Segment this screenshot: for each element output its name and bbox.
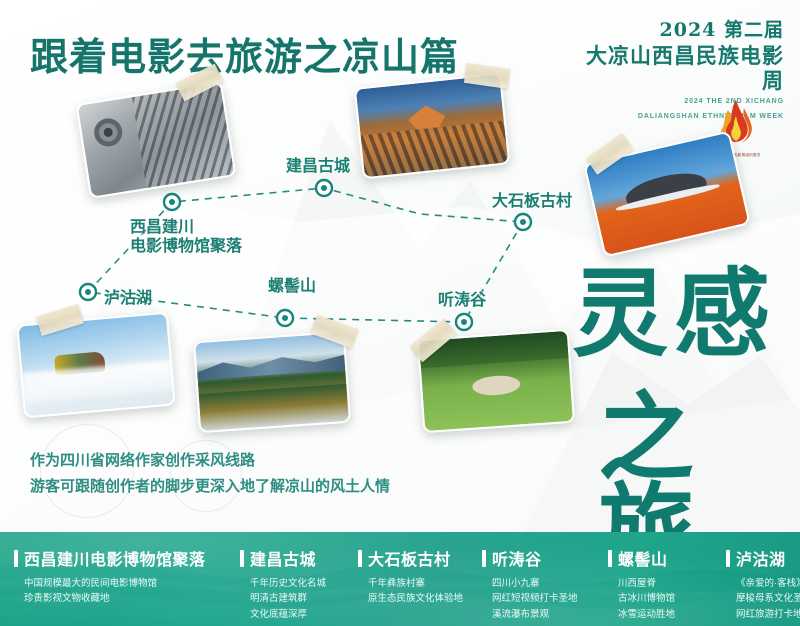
footer-column-1[interactable]: 西昌建川电影博物馆聚落中国规模最大的民间电影博物馆珍贵影视文物收藏地 (14, 546, 240, 626)
footer-column-line: 四川小九寨 (482, 576, 594, 591)
map-label-text: 西昌建川 (130, 218, 242, 237)
map-label-luojishan[interactable]: 螺髻山 (268, 272, 316, 296)
card-jianchang[interactable] (354, 73, 511, 180)
footer-column-header: 听涛谷 (482, 546, 594, 570)
footer-column-line: 文化底蕴深厚 (240, 607, 344, 622)
map-label-luguhu[interactable]: 泸沽湖 (104, 284, 152, 308)
map-label-text: 听涛谷 (438, 286, 486, 310)
map-label-text: 大石板古村 (492, 187, 572, 211)
footer-column-line: 网红短视频打卡圣地 (482, 591, 594, 606)
footer-column-header: 泸沽湖 (726, 546, 800, 570)
card-tingtao[interactable] (417, 329, 575, 433)
description-paragraph: 作为四川省网络作家创作采风线路 游客可跟随创作者的脚步更深入地了解凉山的风土人情 (30, 448, 390, 500)
footer-column-line: 溪流瀑布景观 (482, 607, 594, 622)
footer-column-title: 螺髻山 (618, 546, 668, 570)
calligraphy-line-1: 灵感 (572, 268, 776, 359)
map-label-tingtaogu[interactable]: 听涛谷 (438, 286, 486, 310)
footer-column-4[interactable]: 听涛谷四川小九寨网红短视频打卡圣地溪流瀑布景观 (482, 546, 608, 626)
vertical-bar-icon (14, 550, 18, 567)
vertical-bar-icon (240, 550, 244, 567)
footer-column-line: 珍贵影视文物收藏地 (14, 591, 226, 606)
map-label-jianchang[interactable]: 建昌古城 (286, 152, 350, 176)
description-line-1: 作为四川省网络作家创作采风线路 (30, 448, 390, 474)
footer-column-2[interactable]: 建昌古城千年历史文化名城明清古建筑群文化底蕴深厚 (240, 546, 358, 626)
vertical-bar-icon (482, 550, 486, 567)
footer-column-3[interactable]: 大石板古村千年彝族村寨原生态民族文化体验地 (358, 546, 482, 626)
footer-column-title: 听涛谷 (492, 546, 542, 570)
map-label-text: 电影博物馆聚落 (130, 237, 242, 256)
card-jianchang-image (354, 73, 511, 180)
map-label-jianchuan[interactable]: 西昌建川电影博物馆聚落 (130, 218, 242, 256)
footer-column-line: 明清古建筑群 (240, 591, 344, 606)
footer-column-line: 川西屋脊 (608, 576, 712, 591)
footer-column-6[interactable]: 泸沽湖《亲爱的·客栈》《纸婚》取景地摩梭母系文化圣地网红旅游打卡地 (726, 546, 800, 626)
poster-root: 跟着电影去旅游之凉山篇 2024 第二届 大凉山西昌民族电影周 2024 THE… (0, 0, 800, 626)
footer-column-line: 原生态民族文化体验地 (358, 591, 468, 606)
footer-column-line: 冰雪运动胜地 (608, 607, 712, 622)
map-label-text: 螺髻山 (268, 272, 316, 296)
footer-column-5[interactable]: 螺髻山川西屋脊古冰川博物馆冰雪运动胜地 (608, 546, 726, 626)
footer-column-title: 泸沽湖 (736, 546, 786, 570)
footer-column-title: 西昌建川电影博物馆聚落 (24, 546, 206, 570)
footer-column-title: 大石板古村 (368, 546, 451, 570)
footer-bar: 西昌建川电影博物馆聚落中国规模最大的民间电影博物馆珍贵影视文物收藏地建昌古城千年… (0, 532, 800, 626)
description-line-2: 游客可跟随创作者的脚步更深入地了解凉山的风土人情 (30, 474, 390, 500)
footer-column-line: 网红旅游打卡地 (726, 607, 800, 622)
footer-column-header: 西昌建川电影博物馆聚落 (14, 546, 226, 570)
vertical-bar-icon (608, 550, 612, 567)
map-label-text: 泸沽湖 (104, 284, 152, 308)
vertical-bar-icon (726, 550, 730, 567)
card-luoji[interactable] (193, 331, 351, 433)
footer-column-header: 大石板古村 (358, 546, 468, 570)
footer-column-title: 建昌古城 (250, 546, 316, 570)
footer-column-line: 《亲爱的·客栈》《纸婚》取景地 (726, 576, 800, 591)
footer-column-line: 古冰川博物馆 (608, 591, 712, 606)
footer-column-line: 千年彝族村寨 (358, 576, 468, 591)
map-label-text: 建昌古城 (286, 152, 350, 176)
footer-column-header: 建昌古城 (240, 546, 344, 570)
footer-column-line: 中国规模最大的民间电影博物馆 (14, 576, 226, 591)
footer-column-line: 千年历史文化名城 (240, 576, 344, 591)
card-lugu[interactable] (16, 312, 176, 419)
vertical-bar-icon (358, 550, 362, 567)
map-label-dashiban[interactable]: 大石板古村 (492, 187, 572, 211)
footer-column-line: 摩梭母系文化圣地 (726, 591, 800, 606)
card-luoji-image (193, 331, 351, 433)
footer-column-header: 螺髻山 (608, 546, 712, 570)
